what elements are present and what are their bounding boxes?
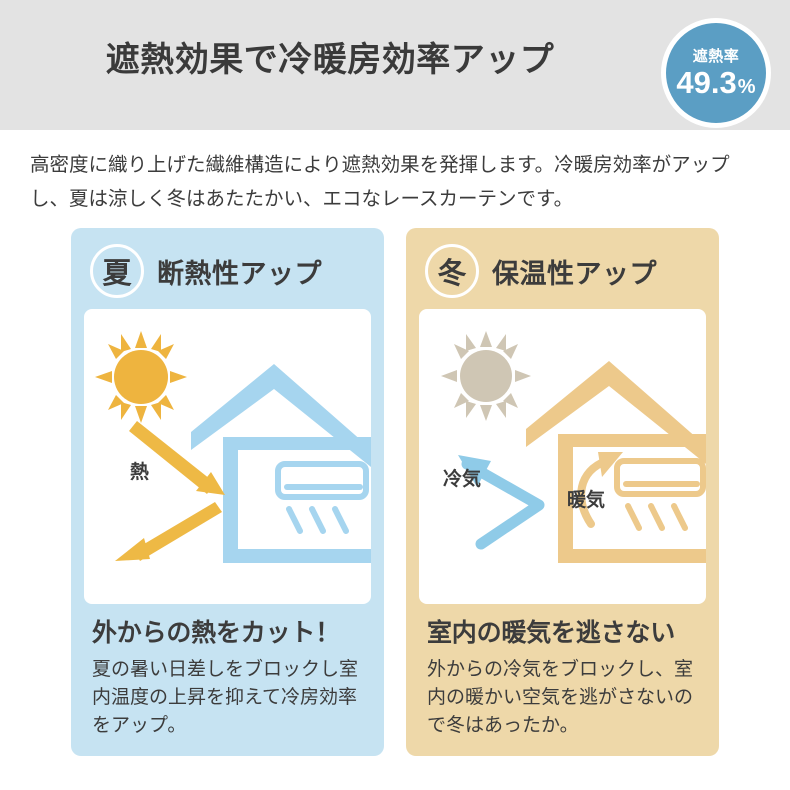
label-warm-air: 暖気 [567,485,605,512]
page-title: 遮熱効果で冷暖房効率アップ [0,40,660,81]
header-band: 遮熱効果で冷暖房効率アップ 遮熱率 49.3 % [0,0,790,130]
panel-summer-foot-body: 夏の暑い日差しをブロックし室内温度の上昇を抑えて冷房効率をアップ。 [92,656,365,740]
heat-arrow-reflected [115,502,222,561]
illustration-winter: 冷気 暖気 [419,309,706,604]
badge-percent-sign: % [738,77,756,97]
panel-winter-foot-body: 外からの冷気をブロックし、室内の暖かい空気を逃がさないので冬はあったか。 [427,656,700,740]
air-conditioner-icon [278,464,366,531]
shading-rate-badge: 遮熱率 49.3 % [661,18,771,128]
panel-winter-header: 冬 保温性アップ [419,242,706,300]
panel-summer-footer: 外からの熱をカット！ 夏の暑い日差しをブロックし室内温度の上昇を抑えて冷房効率を… [84,604,371,740]
season-badge-summer: 夏 [90,244,144,298]
infographic-page: { "header": { "title": "遮熱効果で冷暖房効率アップ", … [0,0,790,790]
lead-paragraph: 高密度に織り上げた繊維構造により遮熱効果を発揮します。冷暖房効率がアップし、夏は… [30,148,760,216]
season-badge-winter: 冬 [425,244,479,298]
panel-winter-foot-title: 室内の暖気を逃さない [427,618,700,648]
panel-winter-title: 保温性アップ [492,252,657,291]
winter-illustration-svg [419,309,706,604]
panel-winter: 冬 保温性アップ [406,228,719,756]
air-conditioner-icon [617,461,703,528]
sun-icon-dim [441,331,531,421]
panel-summer-foot-title: 外からの熱をカット！ [92,618,365,648]
panel-summer-title: 断熱性アップ [157,252,322,291]
panel-winter-footer: 室内の暖気を逃さない 外からの冷気をブロックし、室内の暖かい空気を逃がさないので… [419,604,706,740]
badge-value-number: 49.3 [676,67,736,98]
panel-summer-header: 夏 断熱性アップ [84,242,371,300]
sun-icon [95,331,187,423]
panels-row: 夏 断熱性アップ [0,228,790,756]
summer-illustration-svg [84,309,371,604]
illustration-summer: 熱 [84,309,371,604]
badge-value-group: 49.3 % [676,67,755,98]
badge-label: 遮熱率 [693,49,740,64]
label-heat: 熱 [130,457,149,484]
panel-summer: 夏 断熱性アップ [71,228,384,756]
label-cold-air: 冷気 [443,464,481,491]
